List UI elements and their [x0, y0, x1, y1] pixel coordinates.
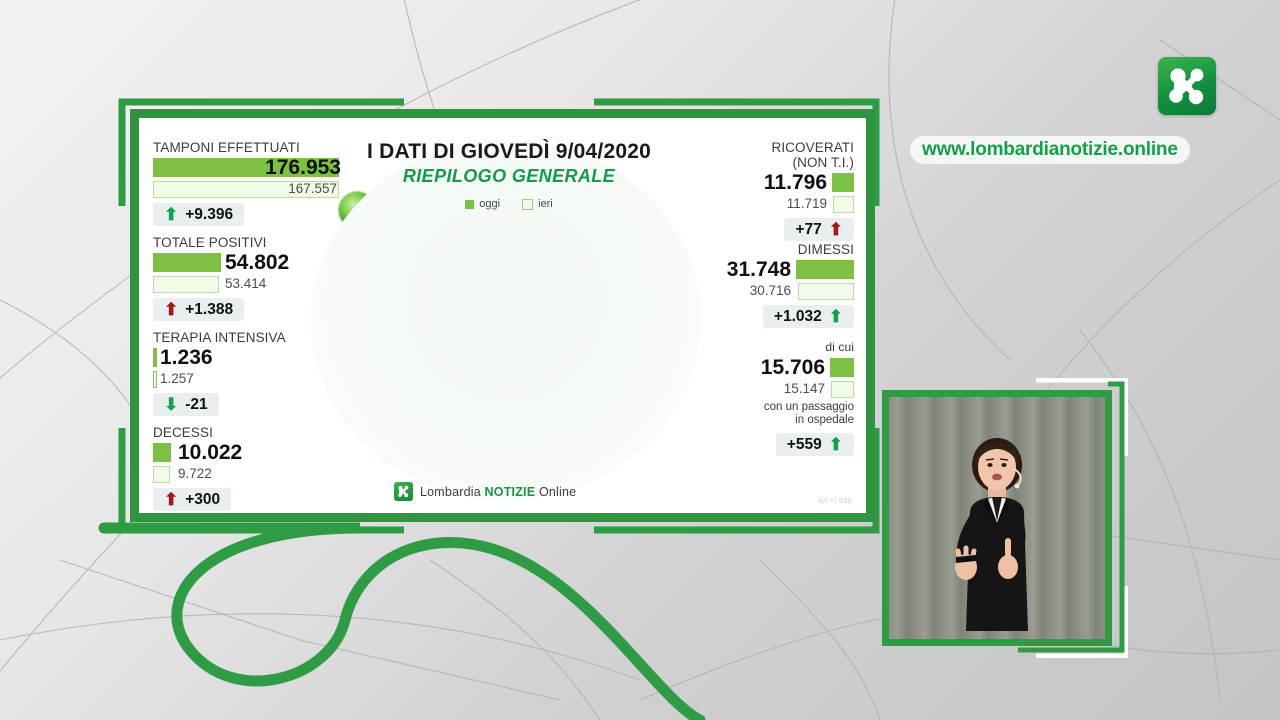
value-yesterday: 53.414 [225, 275, 266, 292]
bar-yesterday [153, 466, 170, 483]
legend-item-ieri: ieri [522, 198, 553, 210]
lombardia-logo-icon [1158, 57, 1216, 115]
stat-tamponi-effettuati: TAMPONI EFFETTUATI 176.953 167.557 ⬆ +9.… [153, 140, 345, 226]
value-today: 54.802 [225, 252, 289, 273]
stat-di-cui-passaggio-ospedale: di cui 15.706 15.147 con un passaggio in… [694, 340, 854, 456]
legend-swatch-yesterday-icon [522, 199, 533, 210]
stat-label: TERAPIA INTENSIVA [153, 330, 345, 345]
page-subtitle: RIEPILOGO GENERALE [299, 166, 719, 187]
video-frame[interactable] [882, 390, 1112, 646]
delta-value: +9.396 [185, 205, 233, 224]
stat-terapia-intensiva: TERAPIA INTENSIVA 1.236 1.257 ⬇ -21 [153, 330, 345, 416]
panel-content: I DATI DI GIOVEDÌ 9/04/2020 RIEPILOGO GE… [139, 118, 866, 513]
value-yesterday: 30.716 [750, 282, 791, 299]
panel-logo-text: Lombardia NOTIZIE Online [420, 485, 576, 499]
stat-label-line1: RICOVERATI [714, 140, 854, 155]
value-yesterday: 9.722 [178, 465, 212, 482]
arrow-up-icon: ⬆ [829, 308, 843, 325]
value-today: 15.706 [761, 357, 825, 378]
value-today: 1.236 [160, 347, 213, 368]
interpreter-figure [922, 431, 1072, 641]
delta-chip: ⬆ +1.388 [153, 298, 244, 321]
legend-item-oggi: oggi [465, 198, 500, 210]
value-yesterday: 11.719 [787, 195, 827, 212]
value-today: 11.796 [764, 172, 827, 193]
website-url[interactable]: www.lombardianotizie.online [910, 136, 1190, 164]
arrow-up-icon: ⬆ [164, 206, 178, 223]
value-today: 31.748 [727, 259, 791, 280]
value-yesterday: 15.147 [784, 380, 825, 397]
panel-corner-note: Wi-Fi Sdg [819, 498, 852, 505]
arrow-up-icon: ⬆ [164, 301, 178, 318]
rosa-camuna-icon [394, 482, 413, 501]
stat-dimessi: DIMESSI 31.748 30.716 +1.032 ⬆ [694, 242, 854, 328]
delta-chip: ⬇ -21 [153, 393, 219, 416]
delta-chip: +1.032 ⬆ [763, 305, 854, 328]
delta-chip: ⬆ +300 [153, 488, 231, 511]
delta-value: +559 [787, 435, 822, 454]
delta-value: +1.388 [185, 300, 233, 319]
stat-note-line2: in ospedale [694, 414, 854, 427]
stat-ricoverati-non-ti: RICOVERATI (NON T.I.) 11.796 11.719 +77 … [714, 140, 854, 241]
value-yesterday: 167.557 [288, 180, 337, 197]
stat-totale-positivi: TOTALE POSITIVI 54.802 53.414 ⬆ +1.388 [153, 235, 345, 321]
chart-legend: oggi ieri [299, 198, 719, 210]
delta-chip: +559 ⬆ [776, 433, 854, 456]
delta-value: -21 [185, 395, 207, 414]
stat-label-line1: DIMESSI [694, 242, 854, 257]
bar-today [153, 348, 157, 367]
value-today: 10.022 [178, 442, 242, 463]
bar-today [153, 253, 221, 272]
arrow-up-icon: ⬆ [829, 221, 843, 238]
delta-value: +77 [795, 220, 821, 239]
stat-decessi: DECESSI 10.022 9.722 ⬆ +300 [153, 425, 345, 511]
delta-chip: ⬆ +9.396 [153, 203, 244, 226]
bar-yesterday [831, 381, 854, 398]
delta-value: +300 [185, 490, 220, 509]
bar-yesterday [798, 283, 854, 300]
stat-label: TOTALE POSITIVI [153, 235, 345, 250]
bar-today [830, 358, 854, 377]
value-yesterday: 1.257 [160, 370, 194, 387]
delta-chip: +77 ⬆ [784, 218, 854, 241]
page-title: I DATI DI GIOVEDÌ 9/04/2020 [299, 140, 719, 164]
bar-yesterday [153, 371, 157, 388]
legend-label-yesterday: ieri [538, 198, 553, 210]
bar-today [153, 443, 171, 462]
value-today: 176.953 [265, 157, 341, 178]
bar-today [796, 260, 854, 279]
arrow-up-icon: ⬆ [164, 491, 178, 508]
stat-label: TAMPONI EFFETTUATI [153, 140, 345, 155]
bar-yesterday [833, 196, 854, 213]
stat-label-di-cui: di cui [694, 340, 854, 355]
bar-yesterday [153, 276, 219, 293]
stat-label-line2: (NON T.I.) [714, 155, 854, 170]
panel-footer-logo: Lombardia NOTIZIE Online [394, 482, 576, 501]
sign-language-video-panel[interactable] [868, 378, 1128, 658]
legend-label-today: oggi [479, 198, 500, 210]
stat-note-line1: con un passaggio [694, 401, 854, 414]
delta-value: +1.032 [774, 307, 822, 326]
legend-swatch-today-icon [465, 200, 474, 209]
arrow-down-icon: ⬇ [164, 396, 178, 413]
arrow-up-icon: ⬆ [829, 436, 843, 453]
covid-summary-panel: I DATI DI GIOVEDÌ 9/04/2020 RIEPILOGO GE… [104, 88, 894, 544]
stat-label: DECESSI [153, 425, 345, 440]
bar-today [832, 173, 854, 192]
